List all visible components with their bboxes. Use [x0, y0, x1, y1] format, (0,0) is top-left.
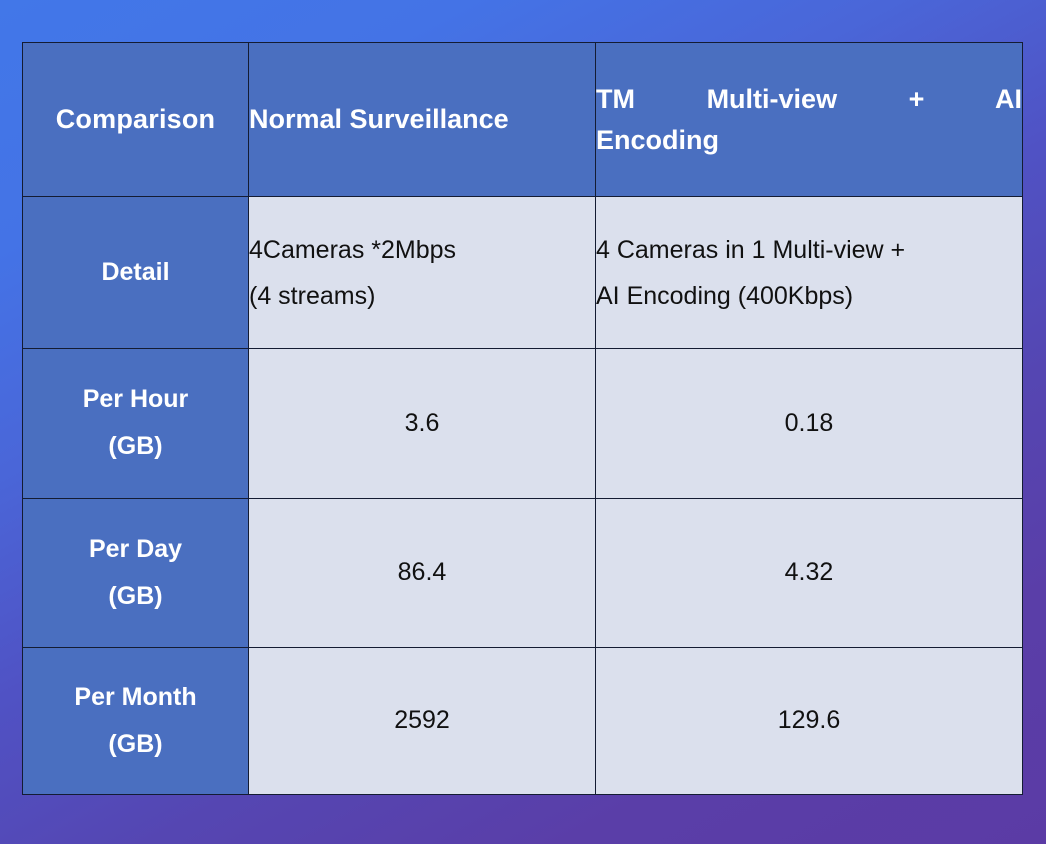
table-row: Detail 4Cameras *2Mbps (4 streams) 4 Cam…: [23, 197, 1023, 349]
table-row: Per Day (GB) 86.4 4.32: [23, 498, 1023, 647]
row-label-per-month-line1: Per Month: [23, 685, 248, 710]
row-label-detail: Detail: [23, 197, 249, 349]
header-label-ai-line1: TM Multi-view + AI: [596, 84, 1022, 114]
row-label-detail-line1: Detail: [23, 260, 248, 285]
cell-per-hour-ai: 0.18: [596, 349, 1023, 498]
cell-detail-normal: 4Cameras *2Mbps (4 streams): [249, 197, 596, 349]
row-label-per-hour-line1: Per Hour: [23, 387, 248, 412]
header-label-normal-surveillance: Normal Surveillance: [249, 104, 509, 134]
header-cell-normal-surveillance: Normal Surveillance: [249, 43, 596, 197]
table-row: Per Hour (GB) 3.6 0.18: [23, 349, 1023, 498]
header-label-comparison: Comparison: [56, 104, 216, 134]
row-label-per-hour: Per Hour (GB): [23, 349, 249, 498]
row-label-per-day-line1: Per Day: [23, 537, 248, 562]
cell-detail-normal-line1: 4Cameras *2Mbps: [249, 227, 595, 273]
cell-per-month-ai: 129.6: [596, 647, 1023, 794]
row-label-per-month-line2: (GB): [23, 732, 248, 757]
row-label-per-day: Per Day (GB): [23, 498, 249, 647]
cell-per-hour-normal: 3.6: [249, 349, 596, 498]
table-row: Per Month (GB) 2592 129.6: [23, 647, 1023, 794]
row-label-per-day-line2: (GB): [23, 584, 248, 609]
header-cell-ai-encoding: TM Multi-view + AI Encoding: [596, 43, 1023, 197]
cell-per-day-normal: 86.4: [249, 498, 596, 647]
row-label-per-month: Per Month (GB): [23, 647, 249, 794]
header-label-ai-line2: Encoding: [596, 120, 1022, 161]
slide-canvas: Comparison Normal Surveillance TM Multi-…: [0, 0, 1046, 844]
row-label-per-hour-line2: (GB): [23, 434, 248, 459]
comparison-table: Comparison Normal Surveillance TM Multi-…: [22, 42, 1023, 795]
cell-per-day-ai: 4.32: [596, 498, 1023, 647]
cell-detail-ai-line2: AI Encoding (400Kbps): [596, 273, 1022, 319]
table-header-row: Comparison Normal Surveillance TM Multi-…: [23, 43, 1023, 197]
cell-per-month-normal: 2592: [249, 647, 596, 794]
cell-detail-normal-line2: (4 streams): [249, 273, 595, 319]
cell-detail-ai: 4 Cameras in 1 Multi-view + AI Encoding …: [596, 197, 1023, 349]
cell-detail-ai-line1: 4 Cameras in 1 Multi-view +: [596, 227, 1022, 273]
header-cell-comparison: Comparison: [23, 43, 249, 197]
